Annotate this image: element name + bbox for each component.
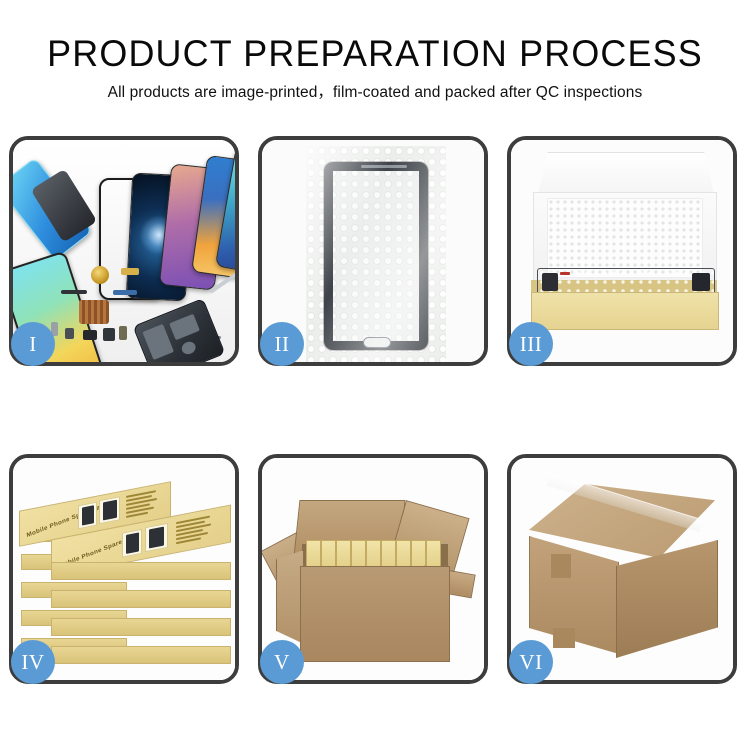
step-badge-6: VI xyxy=(509,640,553,684)
box-front-panel-icon xyxy=(531,292,719,330)
process-step-1: I xyxy=(9,136,239,366)
retail-box xyxy=(51,646,231,664)
battery-connector-part-icon xyxy=(119,326,127,340)
retail-box xyxy=(51,562,231,580)
flex-cable-part-icon xyxy=(113,290,137,295)
page-header: PRODUCT PREPARATION PROCESS All products… xyxy=(0,0,750,103)
carton-seam-tab-icon xyxy=(553,628,575,648)
process-step-2: II xyxy=(258,136,488,366)
ribbon-cable-part-icon xyxy=(61,290,87,294)
process-step-grid: I II xyxy=(9,136,743,684)
product-window-icon xyxy=(122,529,142,558)
red-label-icon xyxy=(560,272,570,275)
process-step-5: V xyxy=(258,454,488,684)
step-badge-5: V xyxy=(260,640,304,684)
bubble-wrap-icon xyxy=(306,146,446,362)
process-step-4: Mobile Phone Spare Parts xyxy=(9,454,239,684)
process-step-3: III xyxy=(507,136,737,366)
product-window-icon xyxy=(78,502,97,530)
product-window-icon xyxy=(145,523,168,552)
process-step-6: VI xyxy=(507,454,737,684)
product-window-icon xyxy=(99,496,120,524)
step-badge-3: III xyxy=(509,322,553,366)
retail-box-stack-icon: Mobile Phone Spare Parts xyxy=(19,480,235,676)
connector-chip-icon xyxy=(79,300,109,324)
page-title: PRODUCT PREPARATION PROCESS xyxy=(11,32,739,76)
retail-box xyxy=(51,618,231,636)
button-part-icon xyxy=(65,328,74,339)
foam-liner-icon xyxy=(547,198,703,278)
camera-module-part-icon xyxy=(83,330,97,340)
copper-coil-icon xyxy=(91,266,109,284)
spec-checklist-icon xyxy=(126,489,160,520)
screen-flex-icon xyxy=(692,273,710,291)
spec-checklist-icon xyxy=(176,514,216,546)
page-subtitle: All products are image-printed，film-coat… xyxy=(0,83,750,103)
speaker-part-icon xyxy=(103,328,115,341)
screen-connector-icon xyxy=(542,273,558,291)
plastic-glare-overlay xyxy=(306,146,446,362)
step-badge-4: IV xyxy=(11,640,55,684)
product-preparation-page: PRODUCT PREPARATION PROCESS All products… xyxy=(0,0,750,750)
step-badge-1: I xyxy=(11,322,55,366)
carton-body-icon xyxy=(300,566,450,662)
gold-flex-part-icon xyxy=(121,268,139,275)
step-badge-2: II xyxy=(260,322,304,366)
carton-seam-tab-icon xyxy=(551,554,571,578)
retail-box xyxy=(51,590,231,608)
